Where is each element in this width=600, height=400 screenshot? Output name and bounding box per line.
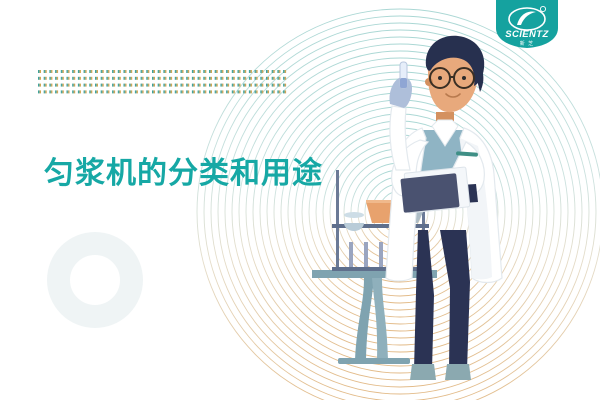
petri-dish xyxy=(344,223,364,231)
scientist-illustration xyxy=(300,20,600,400)
dot-grid-decoration xyxy=(38,70,288,96)
eye-left xyxy=(438,76,442,80)
leg-right xyxy=(440,230,470,370)
shoe-right xyxy=(445,364,471,380)
test-tube-2 xyxy=(364,242,368,267)
held-test-tube-liquid xyxy=(400,78,407,88)
clipboard-board xyxy=(400,173,459,213)
eye-right xyxy=(462,76,466,80)
slide-canvas: 匀浆机的分类和用途 SCIENTZ 新 芝 xyxy=(0,0,600,400)
scientist-figure xyxy=(386,36,502,380)
test-tube-1 xyxy=(349,242,353,267)
shoe-left xyxy=(410,364,436,380)
test-tube-3 xyxy=(379,242,383,267)
leg-left xyxy=(414,230,434,370)
donut-ring-decoration xyxy=(47,232,143,328)
page-title: 匀浆机的分类和用途 xyxy=(44,157,323,192)
